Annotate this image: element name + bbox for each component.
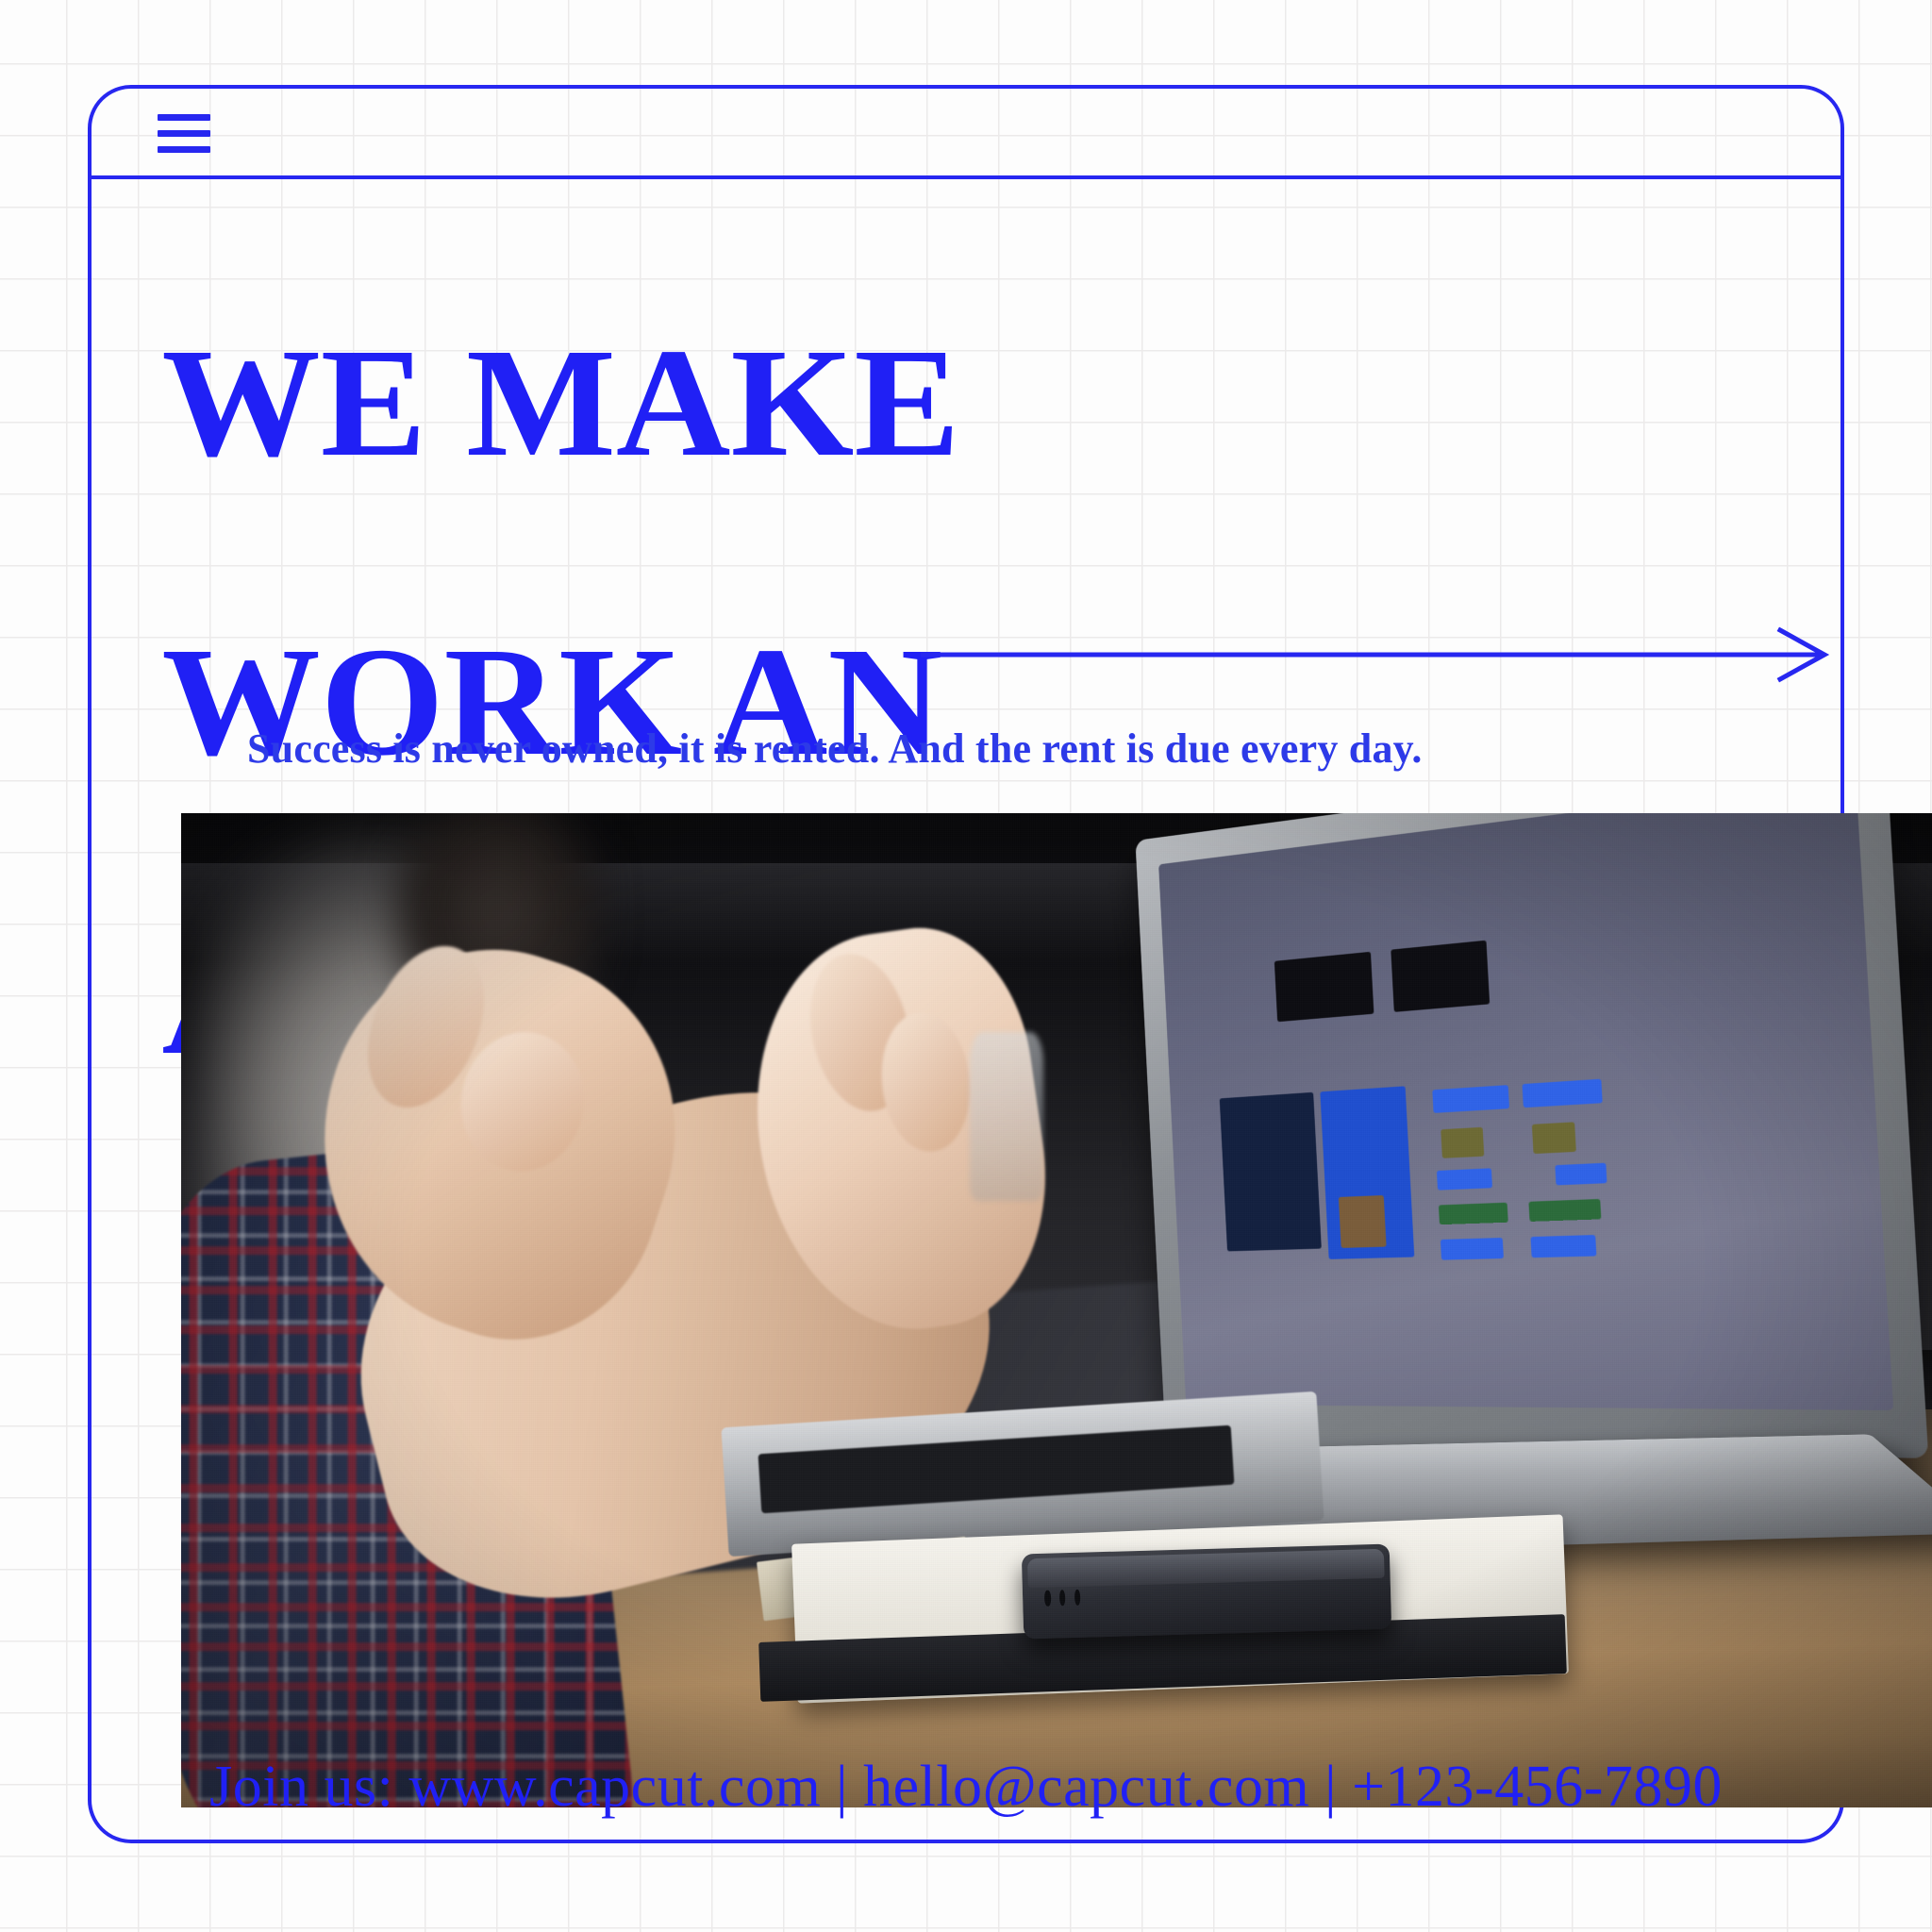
subtitle-tagline: Success is never owned, it is rented. An…: [247, 726, 1423, 772]
headline-line-1: WE MAKE: [161, 328, 1878, 477]
photo-screen-bar-7: [1441, 1238, 1504, 1259]
photo-screen-bar-6: [1529, 1199, 1603, 1223]
hamburger-line-2: [158, 130, 210, 137]
photo-screen-bar-2: [1523, 1078, 1603, 1107]
hamburger-line-3: [158, 146, 210, 153]
photo-screen-bar-5: [1439, 1202, 1508, 1224]
hamburger-menu-icon[interactable]: [158, 114, 210, 154]
photo-screen-bar-3: [1437, 1168, 1492, 1191]
poster-card: WE MAKE WORK AN ADVENTURE. Success is ne…: [88, 85, 1844, 1843]
photo-smartphone-top: [1027, 1549, 1385, 1588]
photo-screen-bar-8: [1531, 1235, 1597, 1257]
photo-screen-bar-1: [1433, 1085, 1510, 1113]
photo-screen-thumb: [1339, 1195, 1388, 1248]
photo-screen-chip-1: [1441, 1127, 1484, 1158]
photo-laptop-screen: [1159, 813, 1894, 1410]
poster-canvas: WE MAKE WORK AN ADVENTURE. Success is ne…: [0, 0, 1932, 1932]
photo-screen-block-2: [1391, 941, 1491, 1012]
photo-screen-chip-2: [1532, 1123, 1576, 1155]
hero-photo: [181, 813, 1932, 1807]
photo-screen-bar-4: [1556, 1162, 1607, 1185]
hamburger-line-1: [158, 114, 210, 121]
photo-smartphone: [1022, 1544, 1392, 1639]
photo-screen-sidebar: [1220, 1091, 1322, 1251]
photo-screen-block-1: [1274, 952, 1374, 1023]
footer-contact-bar: Join us: www.capcut.com | hello@capcut.c…: [92, 1730, 1840, 1843]
photo-smartphone-port-1: [1044, 1591, 1051, 1606]
photo-smartphone-port-3: [1074, 1590, 1080, 1605]
footer-contact-text[interactable]: Join us: www.capcut.com | hello@capcut.c…: [209, 1754, 1723, 1821]
top-bar: [92, 89, 1840, 179]
photo-scene: [181, 813, 1932, 1807]
photo-laptop-lid: [1136, 813, 1928, 1457]
photo-smartphone-port-2: [1059, 1591, 1066, 1606]
